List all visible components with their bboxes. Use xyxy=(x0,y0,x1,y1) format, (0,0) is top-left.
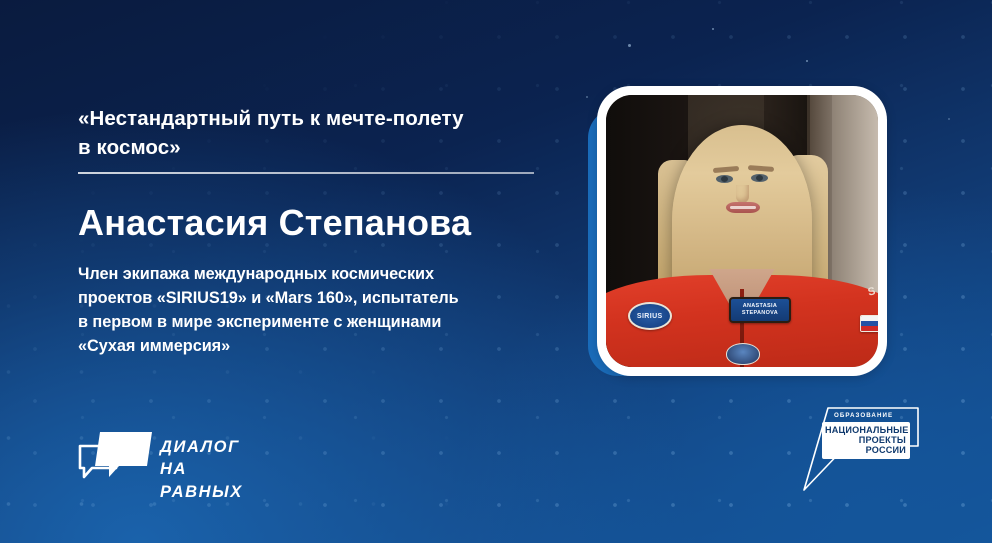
presentation-slide: «Нестандартный путь к мечте-полету в кос… xyxy=(0,0,992,543)
dialog-logo-line-1: ДИАЛОГ xyxy=(160,436,276,458)
np-logo-textbox: НАЦИОНАЛЬНЫЕ ПРОЕКТЫ РОССИИ xyxy=(822,422,910,459)
np-logo-eyebrow: ОБРАЗОВАНИЕ xyxy=(834,412,893,419)
nose xyxy=(736,185,749,203)
eye-left xyxy=(716,175,733,183)
flight-suit: SIRIUS ANASTASIA STEPANOVA S xyxy=(606,275,878,367)
mouth xyxy=(726,202,760,213)
dialog-logo-text: ДИАЛОГ НА РАВНЫХ xyxy=(160,436,276,503)
dialog-na-ravnyh-logo: ДИАЛОГ НА РАВНЫХ xyxy=(76,430,276,492)
speaker-bio: Член экипажа международных космических п… xyxy=(78,263,568,359)
star-dot xyxy=(628,44,631,47)
np-logo-line-3: РОССИИ xyxy=(825,445,906,455)
speaker-portrait: SIRIUS ANASTASIA STEPANOVA S xyxy=(606,95,878,367)
star-dot xyxy=(948,118,950,120)
np-logo-line-1: НАЦИОНАЛЬНЫЕ xyxy=(825,425,906,435)
speaker-photo-block: SIRIUS ANASTASIA STEPANOVA S xyxy=(580,70,910,400)
sirius-patch-label: SIRIUS xyxy=(630,304,670,328)
star-dot xyxy=(712,28,714,30)
name-tag-patch: ANASTASIA STEPANOVA xyxy=(729,297,791,323)
dialog-logo-line-2: НА РАВНЫХ xyxy=(160,458,276,503)
sirius-patch-icon: SIRIUS xyxy=(628,302,672,330)
name-tag-line-2: STEPANOVA xyxy=(742,310,778,316)
np-logo-line-2: ПРОЕКТЫ xyxy=(825,435,906,445)
photo-frame: SIRIUS ANASTASIA STEPANOVA S xyxy=(597,86,887,376)
title-divider xyxy=(78,172,534,174)
speech-bubbles-icon xyxy=(76,430,160,482)
speaker-name: Анастасия Степанова xyxy=(78,203,548,243)
russian-flag-patch-icon xyxy=(860,315,878,332)
emblem-patch-icon xyxy=(726,343,760,365)
national-projects-logo: ОБРАЗОВАНИЕ НАЦИОНАЛЬНЫЕ ПРОЕКТЫ РОССИИ xyxy=(800,398,940,498)
eye-right xyxy=(751,174,768,182)
star-dot xyxy=(806,60,808,62)
name-tag-line-1: ANASTASIA xyxy=(743,303,777,309)
lecture-title: «Нестандартный путь к мечте-полету в кос… xyxy=(78,104,544,162)
